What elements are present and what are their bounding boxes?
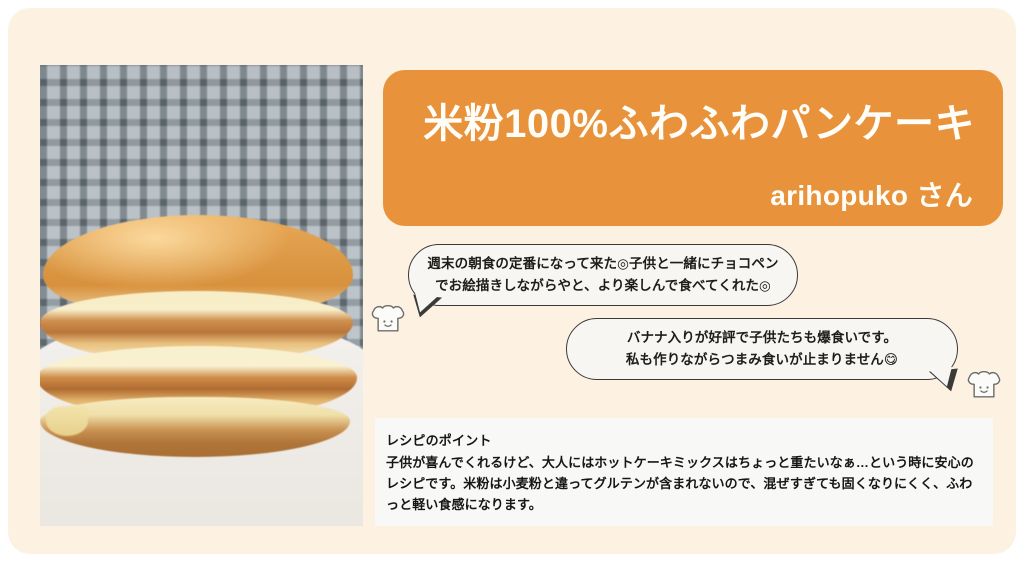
comment-bubble-1-tail-fill: [413, 293, 439, 314]
recipe-author: arihopuko さん: [770, 174, 973, 214]
comment-bubble-2-text: バナナ入りが好評で子供たちも爆食いです。 私も作りながらつまみ食いが止まりません…: [610, 327, 914, 371]
recipe-photo: [40, 65, 363, 526]
recipe-title: 米粉100%ふわふわパンケーキ: [383, 102, 975, 146]
comment-bubble-1-text: 週末の朝食の定番になって来た◎子供と一緒にチョコペン でお絵描きしながらやと、よ…: [411, 253, 794, 297]
comment-bubble-2-tail-fill: [928, 367, 954, 388]
recipe-point-heading: レシピのポイント: [386, 432, 979, 450]
chef-hat-icon: [370, 304, 406, 338]
recipe-card-screen: 米粉100%ふわふわパンケーキ arihopuko さん 週末の朝食の定番になっ…: [0, 0, 1024, 576]
title-banner: 米粉100%ふわふわパンケーキ arihopuko さん: [383, 70, 1003, 226]
recipe-card: 米粉100%ふわふわパンケーキ arihopuko さん 週末の朝食の定番になっ…: [8, 8, 1016, 554]
chef-hat-icon: [966, 370, 1002, 404]
recipe-point-body: 子供が喜んでくれるけど、大人にはホットケーキミックスはちょっと重たいなぁ…という…: [386, 452, 979, 515]
recipe-point-panel: レシピのポイント 子供が喜んでくれるけど、大人にはホットケーキミックスはちょっと…: [375, 418, 993, 526]
comment-bubble-1: 週末の朝食の定番になって来た◎子供と一緒にチョコペン でお絵描きしながらやと、よ…: [408, 244, 798, 306]
comment-bubble-2: バナナ入りが好評で子供たちも爆食いです。 私も作りながらつまみ食いが止まりません…: [566, 318, 958, 380]
